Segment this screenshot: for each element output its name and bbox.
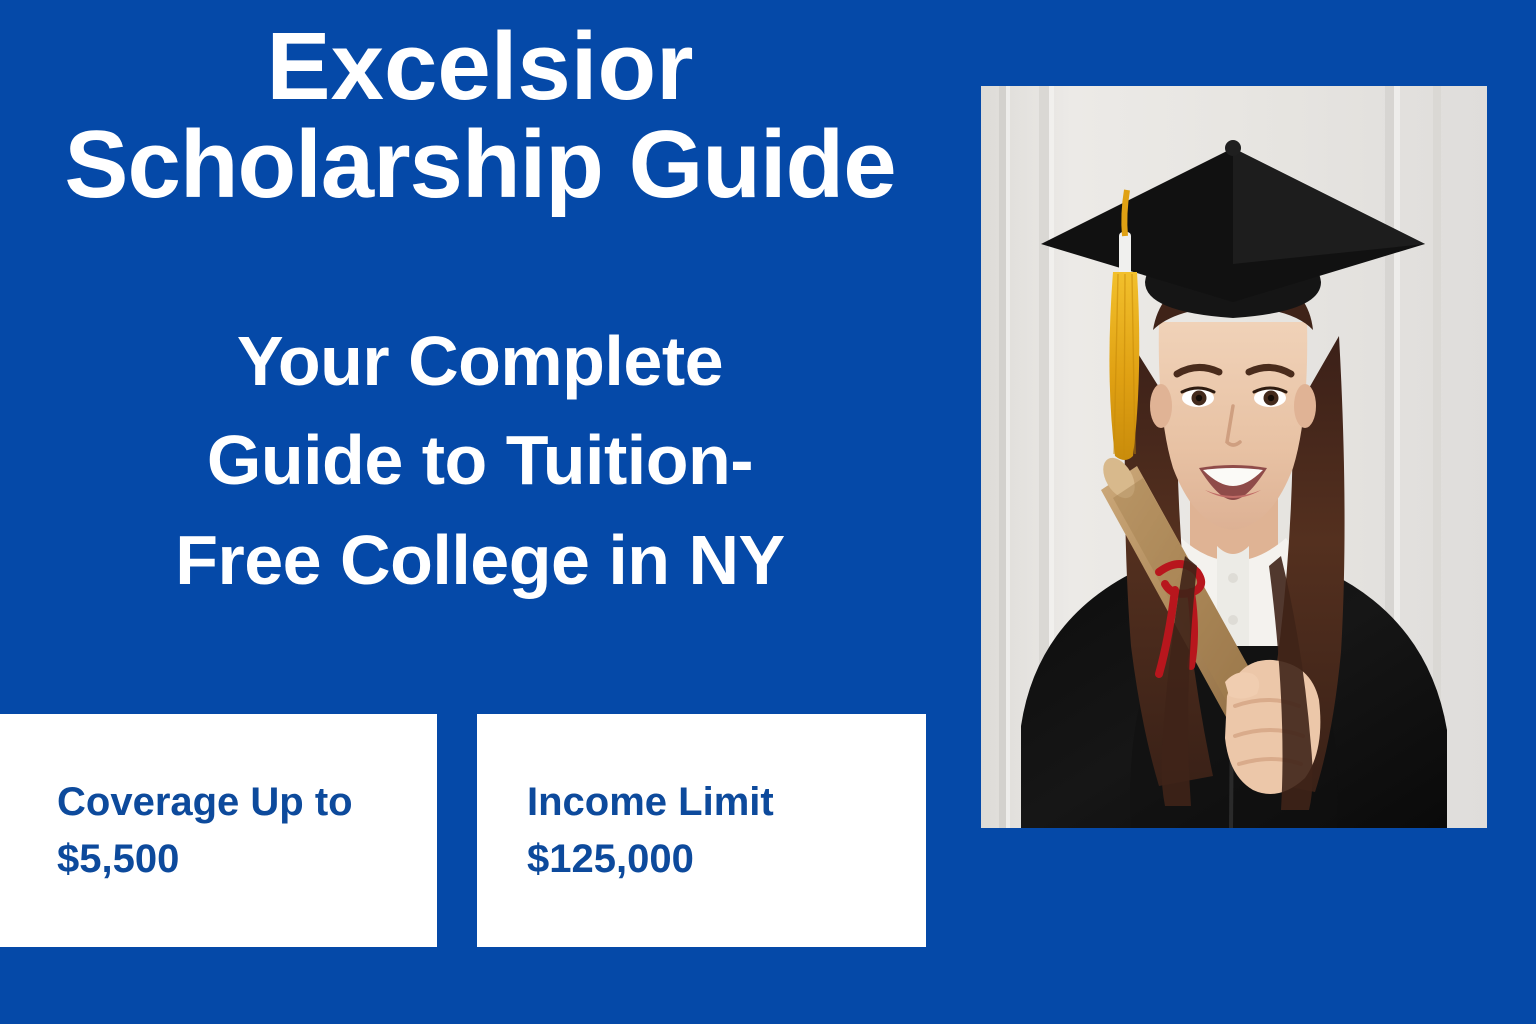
stat-card-income-value: $125,000: [527, 831, 926, 888]
pupil-left: [1196, 395, 1202, 401]
shirt-button-1: [1228, 573, 1238, 583]
headline-line-2: Scholarship Guide: [0, 116, 960, 214]
shirt-button-2: [1228, 615, 1238, 625]
tassel-cord: [1124, 190, 1127, 236]
subtitle-line-2: Guide to Tuition-: [0, 411, 960, 510]
headline-line-1: Excelsior: [0, 18, 960, 116]
pupil-right: [1268, 395, 1274, 401]
stat-card-income-label: Income Limit: [527, 774, 926, 831]
graduate-photo: [981, 86, 1487, 828]
tassel-band: [1119, 232, 1131, 276]
subtitle-line-1: Your Complete: [0, 312, 960, 411]
stat-card-income: Income Limit $125,000: [477, 714, 926, 947]
ear-right: [1294, 384, 1316, 428]
ear-left: [1150, 384, 1172, 428]
cap-button: [1225, 140, 1241, 156]
graduate-photo-illustration: [981, 86, 1487, 828]
stat-card-coverage: Coverage Up to $5,500: [0, 714, 437, 947]
page-title: Excelsior Scholarship Guide: [0, 18, 960, 214]
stat-card-coverage-value: $5,500: [57, 831, 437, 888]
page-subtitle: Your Complete Guide to Tuition- Free Col…: [0, 312, 960, 610]
stat-card-coverage-label: Coverage Up to: [57, 774, 437, 831]
subtitle-line-3: Free College in NY: [0, 511, 960, 610]
poster-canvas: Excelsior Scholarship Guide Your Complet…: [0, 0, 1536, 1024]
